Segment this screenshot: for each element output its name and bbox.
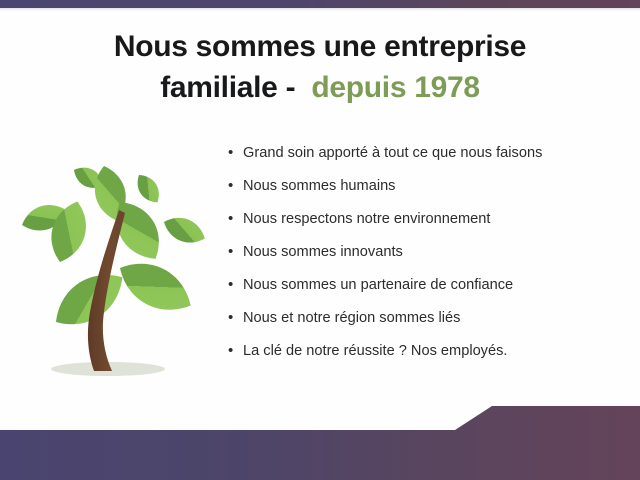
bullet-marker-icon: • xyxy=(228,341,243,361)
tree-icon xyxy=(8,150,220,390)
bullet-marker-icon: • xyxy=(228,308,243,328)
list-item: • La clé de notre réussite ? Nos employé… xyxy=(228,341,628,374)
bullet-marker-icon: • xyxy=(228,275,243,295)
list-item-label: Nous respectons notre environnement xyxy=(243,209,490,229)
bullet-marker-icon: • xyxy=(228,176,243,196)
list-item: • Nous sommes un partenaire de confiance xyxy=(228,275,628,308)
footer-band: tabor-automobiles.fr xyxy=(0,400,640,480)
bullet-marker-icon: • xyxy=(228,143,243,163)
list-item: • Grand soin apporté à tout ce que nous … xyxy=(228,143,628,176)
bullet-marker-icon: • xyxy=(228,209,243,229)
list-item: • Nous et notre région sommes liés xyxy=(228,308,628,341)
bullet-marker-icon: • xyxy=(228,242,243,262)
list-item-label: Nous et notre région sommes liés xyxy=(243,308,460,328)
tree-leaf xyxy=(111,251,200,323)
list-item: • Nous respectons notre environnement xyxy=(228,209,628,242)
page-title-line-2-plain: familiale - xyxy=(160,71,311,104)
benefits-list: • Grand soin apporté à tout ce que nous … xyxy=(228,143,628,374)
list-item-label: Nous sommes un partenaire de confiance xyxy=(243,275,513,295)
slide-canvas: Nous sommes une entreprise familiale - d… xyxy=(0,0,640,480)
list-item-label: La clé de notre réussite ? Nos employés. xyxy=(243,341,507,361)
list-item: • Nous sommes humains xyxy=(228,176,628,209)
page-title-accent: depuis 1978 xyxy=(311,71,479,104)
top-accent-bar xyxy=(0,0,640,8)
page-title-line-1: Nous sommes une entreprise xyxy=(0,26,640,67)
page-title-line-2: familiale - depuis 1978 xyxy=(0,67,640,108)
top-accent-bar-shadow xyxy=(0,8,640,11)
list-item-label: Nous sommes innovants xyxy=(243,242,403,262)
list-item-label: Grand soin apporté à tout ce que nous fa… xyxy=(243,143,542,163)
footer-shape xyxy=(0,400,640,480)
tree-leaf xyxy=(132,170,165,207)
page-title: Nous sommes une entreprise familiale - d… xyxy=(0,26,640,109)
list-item: • Nous sommes innovants xyxy=(228,242,628,275)
tree-leaf xyxy=(160,212,209,249)
list-item-label: Nous sommes humains xyxy=(243,176,395,196)
